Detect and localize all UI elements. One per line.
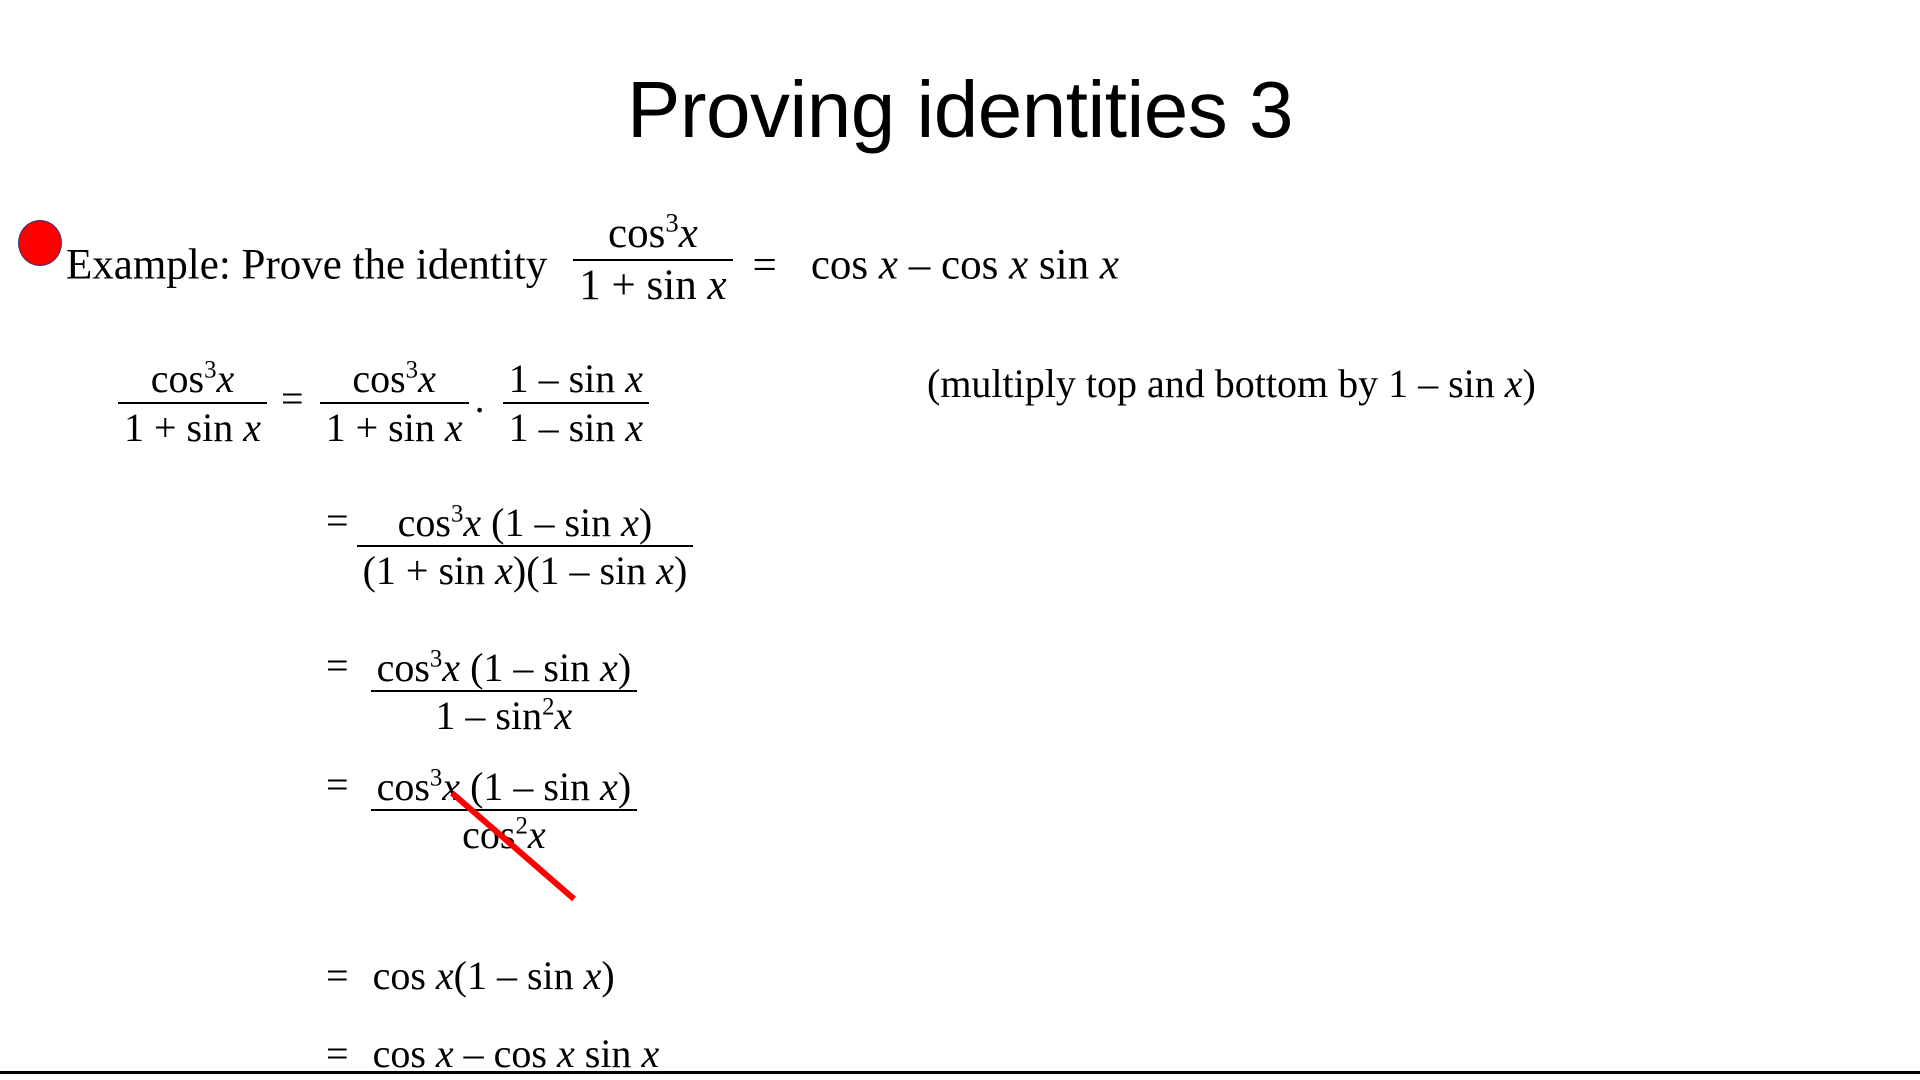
step-1-a-var: x (418, 356, 436, 401)
step-2-fraction: cos3x (1 – sin x) (1 + sin x)(1 – sin x) (357, 502, 694, 592)
step-5-var-1: x (436, 953, 454, 998)
step-4-denominator: cos2x (371, 811, 638, 856)
step-4-den-exp: 2 (515, 813, 527, 840)
bullet-row: Example: Prove the identity cos3x 1 + si… (18, 212, 1119, 308)
step-4-num-var: x (442, 764, 460, 809)
step-1-b-num-var: x (625, 356, 643, 401)
slide-root: Proving identities 3 Example: Prove the … (0, 0, 1920, 1080)
step-5-close: ) (601, 953, 614, 998)
step-1-a-den: 1 + sin x (320, 404, 469, 449)
step-2-den-v1: x (495, 548, 513, 593)
note-tail: ) (1523, 361, 1536, 406)
step-6-sin: sin (575, 1031, 642, 1076)
step-3-num-close: ) (618, 645, 631, 690)
bottom-divider (0, 1071, 1920, 1074)
step-4-numerator: cos3x (1 – sin x) (371, 766, 638, 812)
step-2-den-p1: (1 + sin (363, 548, 496, 593)
step-1-lhs-den-text: 1 + sin (124, 405, 243, 450)
step-6-var-2: x (557, 1031, 575, 1076)
step-1-lhs-cos: cos (151, 356, 204, 401)
cos-exponent: 3 (665, 208, 678, 238)
rhs-var-2: x (1009, 242, 1028, 289)
identity-equals-sign: = (753, 238, 777, 294)
step-2-num-open: (1 – sin (481, 500, 621, 545)
step-3-num-exp: 3 (430, 645, 442, 672)
step-3-num-open: (1 – sin (460, 645, 600, 690)
step-6-equals: = (326, 1033, 349, 1075)
step-3-numerator: cos3x (1 – sin x) (371, 647, 638, 693)
step-1-lhs-var: x (216, 356, 234, 401)
cos-variable: x (679, 210, 698, 257)
step-1-lhs-num: cos3x (118, 358, 267, 404)
step-4-den-var: x (528, 812, 546, 857)
step-3-row: = cos3x (1 – sin x) 1 – sin2x (326, 645, 637, 737)
step-3-num-cos: cos (377, 645, 430, 690)
identity-lhs-fraction: cos3x 1 + sin x (573, 212, 732, 308)
note-var: x (1505, 361, 1523, 406)
cos-base: cos (608, 210, 665, 257)
rhs-cos-1: cos (811, 242, 879, 289)
step-3-den-lead: 1 – sin (435, 693, 542, 738)
step-1-lhs-den-var: x (243, 405, 261, 450)
step-1-b-den-var: x (625, 405, 643, 450)
step-1-b-num: 1 – sin x (503, 358, 649, 404)
step-2-num-var: x (463, 500, 481, 545)
step-4-den-lead: cos (462, 812, 515, 857)
step-6-var-3: x (641, 1031, 659, 1076)
step-2-numerator: cos3x (1 – sin x) (357, 502, 694, 548)
step-1-equals: = (281, 378, 304, 420)
step-2-den-p2: )(1 – sin (513, 548, 656, 593)
step-1-b-den-text: 1 – sin (509, 405, 626, 450)
step-4-num-open: (1 – sin (460, 764, 600, 809)
step-6-cos-1: cos (373, 1031, 436, 1076)
bullet-dot-icon (18, 220, 62, 266)
rhs-var-3: x (1100, 242, 1119, 289)
fraction-numerator: cos3x (573, 212, 732, 261)
step-5-var-2: x (584, 953, 602, 998)
step-4-num-cos: cos (377, 764, 430, 809)
example-label: Example: Prove the identity (66, 242, 547, 289)
step-4-num-close: ) (618, 764, 631, 809)
step-1-b-num-text: 1 – sin (509, 356, 626, 401)
step-1-a-exp: 3 (406, 357, 418, 384)
fraction-denominator: 1 + sin x (573, 261, 732, 309)
step-4-num-tail-var: x (600, 764, 618, 809)
step-1-lhs-fraction: cos3x 1 + sin x (118, 358, 267, 448)
step-3-num-var: x (442, 645, 460, 690)
step-2-row: = cos3x (1 – sin x) (1 + sin x)(1 – sin … (326, 500, 693, 592)
den-text: 1 + sin (579, 262, 707, 309)
step-2-den-p3: ) (674, 548, 687, 593)
step-2-num-tail-var: x (621, 500, 639, 545)
step-5-open: (1 – sin (454, 953, 584, 998)
step-2-num-cos: cos (398, 500, 451, 545)
step-4-row: = cos3x (1 – sin x) cos2x (326, 764, 637, 856)
step-4-num-exp: 3 (430, 764, 442, 791)
step-4-equals: = (326, 764, 349, 806)
step-6-expression: cos x – cos x sin x (373, 1031, 660, 1076)
step-2-num-exp: 3 (451, 500, 463, 527)
step-6-minus: – (454, 1031, 494, 1076)
step-3-denominator: 1 – sin2x (371, 692, 638, 737)
step-6-cos-2: cos (494, 1031, 557, 1076)
step-2-num-close: ) (639, 500, 652, 545)
step-5-row: =cos x(1 – sin x) (326, 955, 615, 997)
step-1-a-num: cos3x (320, 358, 469, 404)
step-3-den-exp: 2 (542, 694, 554, 721)
step-5-equals: = (326, 955, 349, 997)
step-1-row: cos3x 1 + sin x = cos3x 1 + sin x . 1 – … (118, 358, 649, 448)
step-1-a-cos: cos (352, 356, 405, 401)
note-lead: (multiply top and bottom by 1 – sin (927, 361, 1505, 406)
step-2-denominator: (1 + sin x)(1 – sin x) (357, 547, 694, 592)
step-1-note: (multiply top and bottom by 1 – sin x) (927, 360, 1536, 407)
rhs-cos-2: cos (941, 242, 1009, 289)
step-3-num-tail-var: x (600, 645, 618, 690)
identity-rhs: cos x – cos x sin x (811, 242, 1119, 289)
step-1-frac-b: 1 – sin x 1 – sin x (503, 358, 649, 448)
step-1-lhs-exp: 3 (204, 357, 216, 384)
step-3-fraction: cos3x (1 – sin x) 1 – sin2x (371, 647, 638, 737)
strikethrough-annotation-layer (0, 0, 1920, 1080)
step-4-fraction: cos3x (1 – sin x) cos2x (371, 766, 638, 856)
rhs-var-1: x (879, 242, 898, 289)
step-6-var-1: x (436, 1031, 454, 1076)
step-2-den-v2: x (656, 548, 674, 593)
step-5-cos: cos (373, 953, 436, 998)
step-6-row: =cos x – cos x sin x (326, 1033, 659, 1075)
den-variable: x (707, 262, 726, 309)
step-1-multiply-operator: . (475, 378, 485, 420)
rhs-minus: – (898, 242, 941, 289)
step-3-equals: = (326, 645, 349, 687)
step-1-a-den-var: x (445, 405, 463, 450)
page-title: Proving identities 3 (0, 70, 1920, 150)
step-1-lhs-den: 1 + sin x (118, 404, 267, 449)
step-1-frac-a: cos3x 1 + sin x (320, 358, 469, 448)
rhs-sin: sin (1028, 242, 1100, 289)
step-5-expression: cos x(1 – sin x) (373, 953, 615, 998)
step-2-equals: = (326, 500, 349, 542)
step-3-den-var: x (555, 693, 573, 738)
step-1-b-den: 1 – sin x (503, 404, 649, 449)
step-1-a-den-text: 1 + sin (326, 405, 445, 450)
bullet-content: Example: Prove the identity cos3x 1 + si… (66, 212, 1119, 308)
